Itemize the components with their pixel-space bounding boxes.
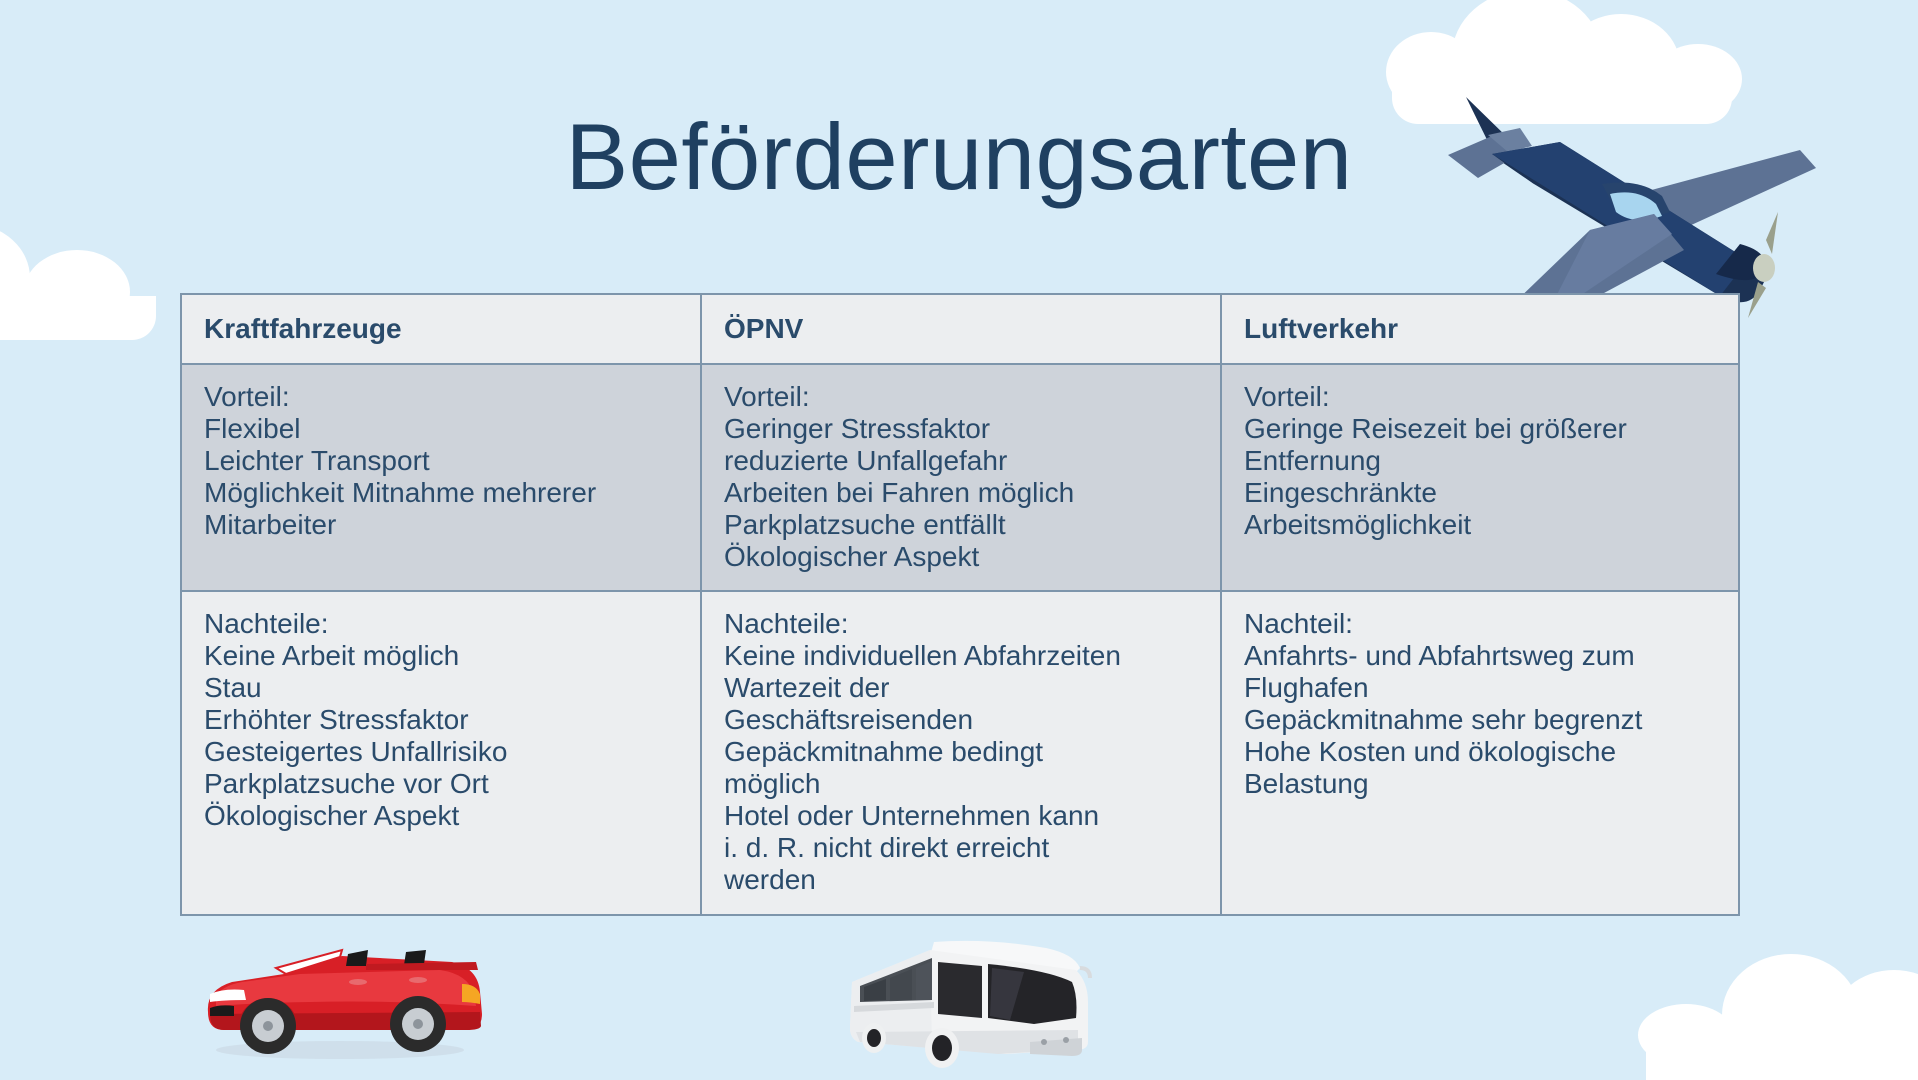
column-header-luftverkehr: Luftverkehr	[1221, 294, 1739, 364]
table-row-advantages: Vorteil: Flexibel Leichter Transport Mög…	[181, 364, 1739, 591]
column-header-kraftfahrzeuge: Kraftfahrzeuge	[181, 294, 701, 364]
cell-disadvantages-luftverkehr: Nachteil: Anfahrts- und Abfahrtsweg zum …	[1221, 591, 1739, 914]
coach-bus-illustration	[838, 938, 1128, 1080]
slide-canvas: Beförderungsarten Kraftfahrzeuge ÖP	[0, 0, 1918, 1080]
cell-advantages-luftverkehr: Vorteil: Geringe Reisezeit bei größerer …	[1221, 364, 1739, 591]
cell-disadvantages-kraftfahrzeuge: Nachteile: Keine Arbeit möglich Stau Erh…	[181, 591, 701, 914]
cloud-icon	[1646, 1034, 1918, 1080]
table-header-row: Kraftfahrzeuge ÖPNV Luftverkehr	[181, 294, 1739, 364]
cell-advantages-oepnv: Vorteil: Geringer Stressfaktor reduziert…	[701, 364, 1221, 591]
comparison-table: Kraftfahrzeuge ÖPNV Luftverkehr Vorteil:…	[180, 293, 1740, 916]
table-row-disadvantages: Nachteile: Keine Arbeit möglich Stau Erh…	[181, 591, 1739, 914]
column-header-oepnv: ÖPNV	[701, 294, 1221, 364]
cloud-icon	[0, 296, 156, 340]
page-title: Beförderungsarten	[0, 108, 1918, 207]
red-convertible-car-illustration	[190, 920, 490, 1080]
cell-advantages-kraftfahrzeuge: Vorteil: Flexibel Leichter Transport Mög…	[181, 364, 701, 591]
cell-disadvantages-oepnv: Nachteile: Keine individuellen Abfahrzei…	[701, 591, 1221, 914]
